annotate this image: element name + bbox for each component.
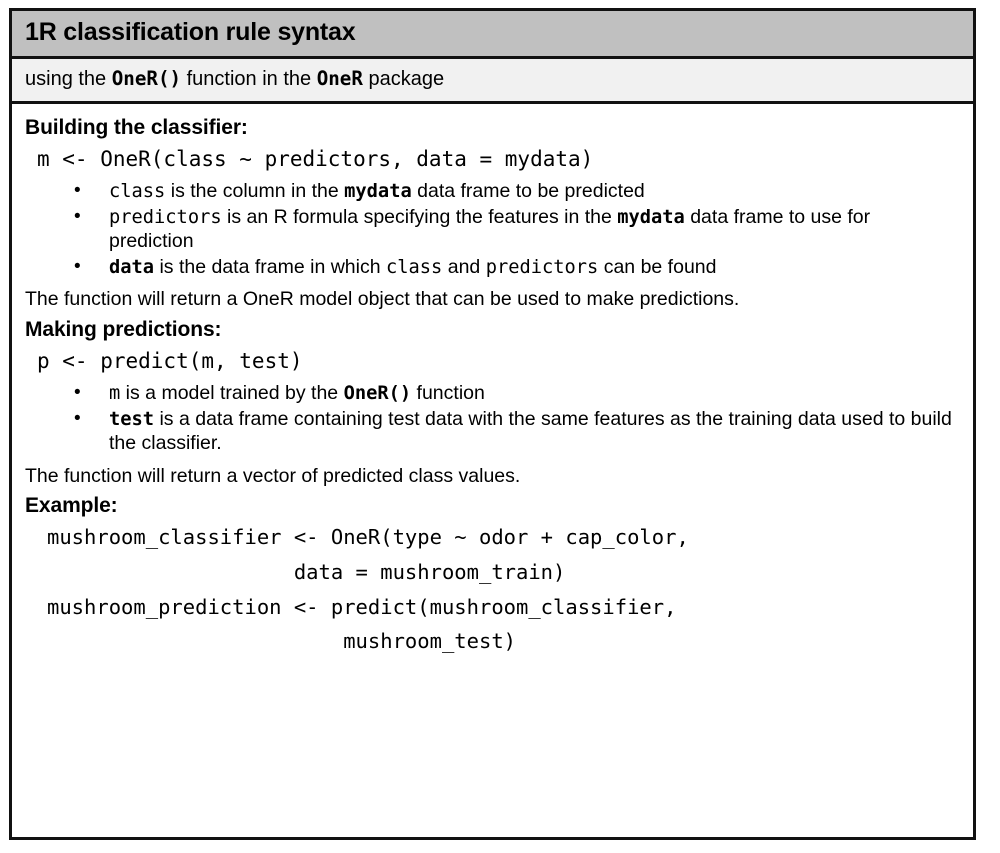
bullet-icon: • (74, 407, 81, 430)
note-building-return: The function will return a OneR model ob… (25, 287, 959, 311)
arg-ref-predictors: predictors (486, 257, 599, 278)
code-example-line-2: data = mushroom_train) (47, 557, 959, 589)
arg-name-class: class (109, 181, 165, 202)
subtitle-package-name: OneR (317, 67, 363, 90)
bullet-icon: • (74, 381, 81, 404)
code-example-line-4: mushroom_test) (47, 626, 959, 658)
list-item: •test is a data frame containing test da… (25, 408, 959, 456)
arg-name-data: data (109, 257, 154, 278)
box-header: 1R classification rule syntax (12, 11, 973, 59)
arg-desc-part: data frame to be predicted (412, 180, 645, 202)
section-heading-predicting: Making predictions: (25, 318, 959, 342)
subtitle-suffix: package (363, 68, 444, 90)
arg-name-predictors: predictors (109, 207, 222, 228)
arg-desc-part: is a model trained by the (120, 382, 343, 404)
code-example-line-3: mushroom_prediction <- predict(mushroom_… (47, 592, 959, 624)
note-predicting-return: The function will return a vector of pre… (25, 464, 959, 488)
arg-list-building: •class is the column in the mydata data … (25, 180, 959, 279)
bullet-icon: • (74, 179, 81, 202)
arg-desc-part: function (411, 382, 485, 404)
code-example-line-1: mushroom_classifier <- OneR(type ~ odor … (47, 522, 959, 554)
arg-ref-mydata: mydata (617, 207, 685, 228)
arg-ref-class: class (386, 257, 442, 278)
list-item: •m is a model trained by the OneR() func… (25, 382, 959, 406)
arg-list-predicting: •m is a model trained by the OneR() func… (25, 382, 959, 455)
arg-desc-part: and (442, 256, 485, 278)
arg-desc-part: can be found (598, 256, 716, 278)
subtitle-prefix: using the (25, 68, 112, 90)
box-title: 1R classification rule syntax (25, 18, 973, 47)
arg-ref-oner-fn: OneR() (344, 383, 412, 404)
bullet-icon: • (74, 205, 81, 228)
subtitle-middle: function in the (181, 68, 317, 90)
list-item: •predictors is an R formula specifying t… (25, 206, 959, 254)
section-heading-building: Building the classifier: (25, 116, 959, 140)
arg-desc-part: is an R formula specifying the features … (222, 206, 618, 228)
box-body: Building the classifier: m <- OneR(class… (12, 104, 973, 837)
box-subtitle: using the OneR() function in the OneR pa… (12, 59, 973, 104)
arg-name-test: test (109, 409, 154, 430)
list-item: •class is the column in the mydata data … (25, 180, 959, 204)
list-item: •data is the data frame in which class a… (25, 256, 959, 280)
subtitle-function-name: OneR() (112, 67, 181, 90)
section-heading-example: Example: (25, 494, 959, 518)
code-make-prediction: p <- predict(m, test) (37, 346, 959, 376)
syntax-reference-box: 1R classification rule syntax using the … (9, 8, 976, 840)
arg-desc-part: is a data frame containing test data wit… (109, 408, 952, 454)
arg-name-m: m (109, 383, 120, 404)
arg-desc-part: is the data frame in which (154, 256, 386, 278)
arg-desc-part: is the column in the (165, 180, 344, 202)
code-build-classifier: m <- OneR(class ~ predictors, data = myd… (37, 144, 959, 174)
bullet-icon: • (74, 255, 81, 278)
arg-ref-mydata: mydata (344, 181, 412, 202)
